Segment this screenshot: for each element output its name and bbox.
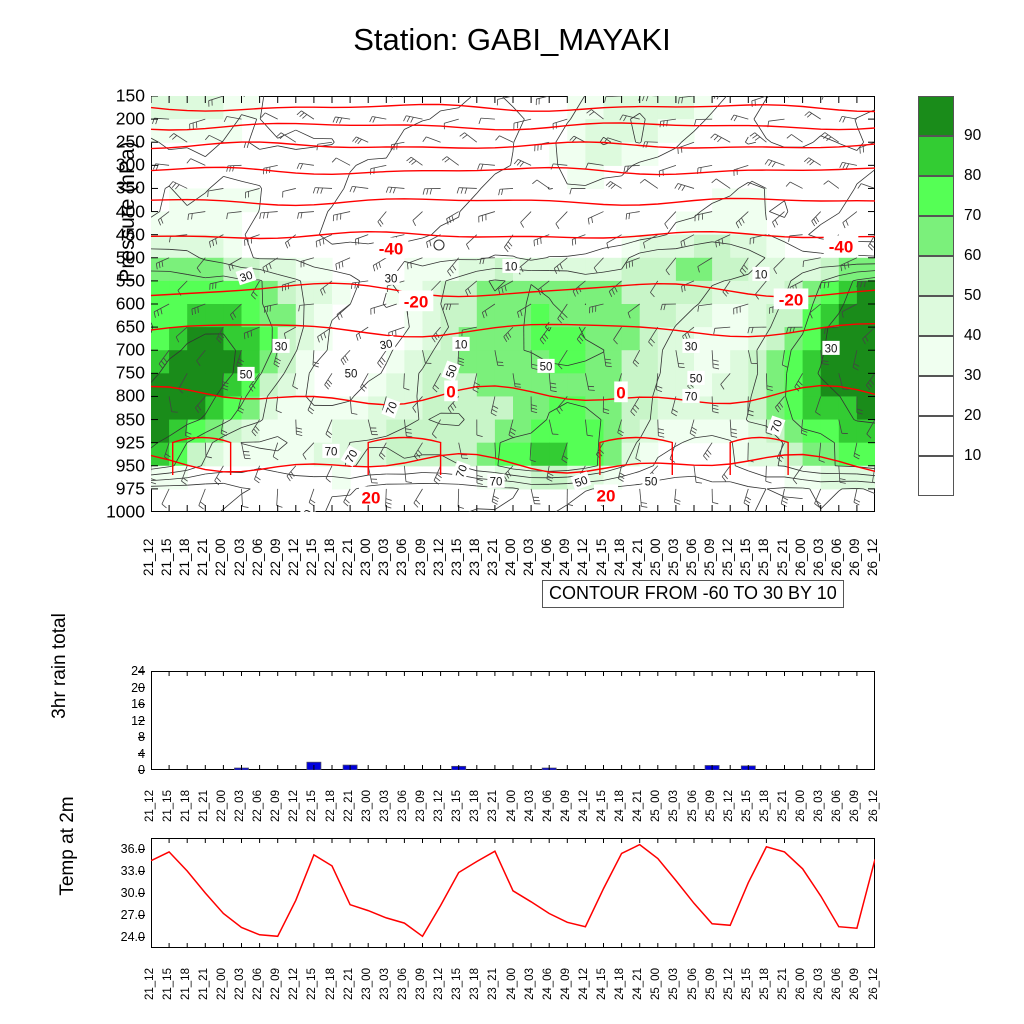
svg-text:20: 20 <box>362 488 381 507</box>
main-y-tick-label: 800 <box>116 386 145 407</box>
rain-x-tick-label: 21_12 <box>144 790 156 822</box>
main-x-tick-label: 24_06 <box>539 538 554 576</box>
temp-x-tick-label: 22_00 <box>216 968 228 1000</box>
rain-x-tick-label: 23_03 <box>379 790 391 822</box>
temp-x-tick-label: 23_00 <box>361 968 373 1000</box>
temp-axis-ticks <box>151 838 875 948</box>
colorbar-tick-label: 40 <box>964 327 981 345</box>
rain-x-tick-label: 23_09 <box>415 790 427 822</box>
temp-x-tick-label: 21_18 <box>180 968 192 1000</box>
temp-x-tick-label: 24_12 <box>578 968 590 1000</box>
main-x-tick-label: 25_12 <box>720 538 735 576</box>
rain-x-tick-label: 26_03 <box>813 790 825 822</box>
rain-x-tick-label: 24_00 <box>506 790 518 822</box>
page-title: Station: GABI_MAYAKI <box>0 22 1024 58</box>
temp-x-tick-label: 25_09 <box>705 968 717 1000</box>
contour-label: 50 <box>237 367 254 382</box>
main-x-tick-label: 26_09 <box>847 538 862 576</box>
contour-label: 0 <box>444 380 458 401</box>
colorbar-tick-label: 90 <box>964 127 981 145</box>
main-x-tick-label: 22_03 <box>232 538 247 576</box>
temp-x-tick-label: 23_12 <box>433 968 445 1000</box>
main-y-tick-label: 550 <box>116 270 145 291</box>
main-y-tick-label: 150 <box>116 86 145 107</box>
svg-text:-40: -40 <box>379 239 404 258</box>
svg-text:50: 50 <box>240 369 253 381</box>
temp-x-tick-label: 24_00 <box>506 968 518 1000</box>
rain-x-tick-label: 25_21 <box>777 790 789 822</box>
main-x-tick-label: 24_03 <box>521 538 536 576</box>
temp-line <box>151 845 875 937</box>
svg-text:0: 0 <box>446 382 455 401</box>
rain-x-tick-label: 26_06 <box>831 790 843 822</box>
main-x-tick-label: 23_00 <box>358 538 373 576</box>
colorbar-cell <box>918 176 954 216</box>
main-x-tick-label: 25_21 <box>775 538 790 576</box>
svg-text:50: 50 <box>645 476 658 488</box>
temp-y-axis-title: Temp at 2m <box>57 756 79 936</box>
temp-x-tick-label: 23_03 <box>379 968 391 1000</box>
temp-x-tick-label: 26_06 <box>831 968 843 1000</box>
temp-x-tick-label: 22_03 <box>234 968 246 1000</box>
rain-x-tick-label: 21_18 <box>180 790 192 822</box>
main-plot-canvas: -40-40-20-200020203030101030301030305050… <box>151 96 875 512</box>
rain-y-tick <box>138 737 145 738</box>
rain-x-tick-label: 22_18 <box>325 790 337 822</box>
temp-x-tick-label: 25_18 <box>759 968 771 1000</box>
rain-x-tick-label: 25_18 <box>759 790 771 822</box>
main-x-tick-label: 22_18 <box>322 538 337 576</box>
temp-x-tick-label: 22_21 <box>343 968 355 1000</box>
colorbar-tick-label: 70 <box>964 207 981 225</box>
main-x-tick-label: 25_18 <box>756 538 771 576</box>
colorbar-tick-label: 50 <box>964 287 981 305</box>
main-x-tick-label: 25_06 <box>684 538 699 576</box>
main-x-tick-label: 23_06 <box>394 538 409 576</box>
rain-y-tick <box>138 671 145 672</box>
temp-x-tick-label: 22_15 <box>306 968 318 1000</box>
svg-text:10: 10 <box>755 269 768 281</box>
temp-x-tick-label: 25_03 <box>668 968 680 1000</box>
svg-text:50: 50 <box>540 361 553 373</box>
rain-x-tick-label: 22_09 <box>270 790 282 822</box>
contour-label: 30 <box>682 339 699 354</box>
contour-label: -40 <box>374 237 409 258</box>
rain-x-tick-label: 22_06 <box>252 790 264 822</box>
rain-x-tick-label: 24_12 <box>578 790 590 822</box>
svg-text:70: 70 <box>325 446 338 458</box>
temp-x-tick-label: 23_21 <box>487 968 499 1000</box>
svg-text:-40: -40 <box>829 237 854 256</box>
rain-axis-ticks <box>151 671 875 770</box>
svg-text:30: 30 <box>685 341 698 353</box>
main-y-tick-label: 350 <box>116 178 145 199</box>
main-x-tick-label: 26_06 <box>829 538 844 576</box>
main-x-tick-label: 23_09 <box>413 538 428 576</box>
contour-label: 70 <box>682 389 699 404</box>
temp-plot-canvas <box>151 838 875 948</box>
temp-x-tick-label: 22_09 <box>270 968 282 1000</box>
svg-text:30: 30 <box>379 338 394 352</box>
temp-x-tick-label: 26_00 <box>795 968 807 1000</box>
temp-x-tick-label: 25_21 <box>777 968 789 1000</box>
contour-label: 70 <box>487 474 504 489</box>
contour-label: 50 <box>537 359 554 374</box>
main-y-tick-label: 1000 <box>106 502 145 523</box>
rain-x-tick-label: 22_03 <box>234 790 246 822</box>
humidity-time-height-panel: -40-40-20-200020203030101030301030305050… <box>151 96 875 512</box>
main-y-tick-label: 600 <box>116 294 145 315</box>
temp-y-tick <box>138 915 145 916</box>
temp-y-tick <box>138 893 145 894</box>
contour-label: -40 <box>824 235 859 256</box>
colorbar-cell <box>918 336 954 376</box>
colorbar-cell <box>918 376 954 416</box>
rain-x-tick-label: 22_12 <box>288 790 300 822</box>
rain-y-tick <box>138 770 145 771</box>
rain-x-tick-label: 25_09 <box>705 790 717 822</box>
rain-x-tick-label: 25_06 <box>687 790 699 822</box>
main-x-tick-label: 21_15 <box>159 538 174 576</box>
main-x-tick-label: 25_09 <box>702 538 717 576</box>
temp-panel <box>151 838 875 948</box>
main-x-tick-label: 25_03 <box>666 538 681 576</box>
contour-note: CONTOUR FROM -60 TO 30 BY 10 <box>542 580 844 608</box>
temp-x-tick-label: 21_21 <box>198 968 210 1000</box>
main-x-tick-label: 23_15 <box>449 538 464 576</box>
main-y-tick-label: 750 <box>116 363 145 384</box>
temp-x-tick-label: 24_15 <box>596 968 608 1000</box>
temp-y-tick <box>138 871 145 872</box>
rain-x-tick-label: 24_06 <box>542 790 554 822</box>
temp-x-tick-label: 24_03 <box>524 968 536 1000</box>
main-x-tick-label: 23_12 <box>431 538 446 576</box>
main-x-tick-label: 24_12 <box>575 538 590 576</box>
main-y-tick-label: 500 <box>116 247 145 268</box>
main-y-tick-label: 250 <box>116 132 145 153</box>
colorbar-cell <box>918 296 954 336</box>
colorbar-cell <box>918 256 954 296</box>
temp-x-tick-label: 23_06 <box>397 968 409 1000</box>
temp-x-tick-label: 26_09 <box>849 968 861 1000</box>
rain-y-tick <box>138 687 145 688</box>
temp-x-tick-label: 22_12 <box>288 968 300 1000</box>
contour-label: 10 <box>452 337 469 352</box>
rain-y-tick <box>138 720 145 721</box>
svg-text:30: 30 <box>275 341 288 353</box>
main-y-tick-label: 950 <box>116 455 145 476</box>
marker-circle <box>434 240 444 250</box>
contour-label: 10 <box>752 267 769 282</box>
main-y-tick-label: 975 <box>116 478 145 499</box>
rain-x-tick-label: 25_03 <box>668 790 680 822</box>
svg-text:10: 10 <box>505 261 518 273</box>
contour-label: 30 <box>382 271 399 286</box>
main-x-tick-label: 24_09 <box>557 538 572 576</box>
rain-x-tick-label: 25_12 <box>723 790 735 822</box>
contour-label: 30 <box>272 339 289 354</box>
main-x-tick-label: 21_21 <box>195 538 210 576</box>
main-x-tick-label: 24_15 <box>594 538 609 576</box>
main-x-tick-labels: 21_1221_1521_1821_2122_0022_0322_0622_09… <box>151 518 875 578</box>
temp-x-tick-label: 22_06 <box>252 968 264 1000</box>
main-x-tick-label: 21_12 <box>141 538 156 576</box>
contour-label: 30 <box>376 335 396 352</box>
rain-x-tick-label: 23_18 <box>469 790 481 822</box>
temp-x-tick-label: 26_03 <box>813 968 825 1000</box>
main-x-tick-label: 22_15 <box>304 538 319 576</box>
temp-x-tick-label: 25_06 <box>687 968 699 1000</box>
main-x-tick-label: 25_00 <box>648 538 663 576</box>
rain-x-tick-label: 26_09 <box>849 790 861 822</box>
contour-label: 50 <box>342 366 359 381</box>
main-y-tick-label: 650 <box>116 317 145 338</box>
main-x-tick-label: 24_18 <box>612 538 627 576</box>
svg-text:0: 0 <box>616 383 625 402</box>
temp-x-tick-label: 25_12 <box>723 968 735 1000</box>
contour-label: 50 <box>642 474 659 489</box>
contour-label: 0 <box>614 381 628 402</box>
svg-text:70: 70 <box>685 391 698 403</box>
temp-x-tick-label: 26_12 <box>868 968 880 1000</box>
main-x-tick-label: 22_00 <box>213 538 228 576</box>
temp-x-tick-label: 25_00 <box>650 968 662 1000</box>
main-x-tick-label: 23_18 <box>467 538 482 576</box>
main-x-tick-label: 22_06 <box>250 538 265 576</box>
main-y-tick-label: 450 <box>116 224 145 245</box>
temp-x-tick-label: 23_18 <box>469 968 481 1000</box>
svg-text:20: 20 <box>597 486 616 505</box>
temp-x-tick-label: 24_18 <box>614 968 626 1000</box>
colorbar-cell <box>918 456 954 496</box>
contour-label: 20 <box>359 486 383 507</box>
rain-x-tick-label: 22_00 <box>216 790 228 822</box>
rain-x-tick-label: 25_15 <box>741 790 753 822</box>
rain-x-tick-label: 26_12 <box>868 790 880 822</box>
temp-x-tick-label: 23_15 <box>451 968 463 1000</box>
rain-y-tick <box>138 704 145 705</box>
temp-x-tick-labels: 21_1221_1521_1821_2122_0022_0322_0622_09… <box>151 950 875 1002</box>
svg-text:70: 70 <box>490 476 503 488</box>
main-y-tick-label: 850 <box>116 409 145 430</box>
temp-x-tick-label: 21_15 <box>162 968 174 1000</box>
main-y-tick-label: 400 <box>116 201 145 222</box>
main-x-tick-label: 26_03 <box>811 538 826 576</box>
main-x-tick-label: 22_09 <box>268 538 283 576</box>
colorbar-tick-label: 20 <box>964 407 981 425</box>
colorbar-tick-label: 10 <box>964 447 981 465</box>
temp-x-tick-label: 24_06 <box>542 968 554 1000</box>
main-y-tick-label: 300 <box>116 155 145 176</box>
temp-x-tick-label: 24_09 <box>560 968 572 1000</box>
humidity-colorbar: 908070605040302010 <box>918 96 954 496</box>
rain-x-tick-label: 22_21 <box>343 790 355 822</box>
main-x-tick-label: 22_12 <box>286 538 301 576</box>
rain-x-tick-label: 26_00 <box>795 790 807 822</box>
rain-x-tick-label: 23_15 <box>451 790 463 822</box>
main-x-tick-label: 25_15 <box>738 538 753 576</box>
rain-x-tick-labels: 21_1221_1521_1821_2122_0022_0322_0622_09… <box>151 772 875 824</box>
svg-text:10: 10 <box>455 339 468 351</box>
rain-x-tick-label: 23_21 <box>487 790 499 822</box>
svg-text:30: 30 <box>385 273 398 285</box>
rain-x-tick-label: 24_09 <box>560 790 572 822</box>
colorbar-cell <box>918 216 954 256</box>
contour-label: 30 <box>822 341 839 356</box>
rain-y-axis-title: 3hr rain total <box>49 576 71 756</box>
main-x-tick-label: 26_12 <box>865 538 880 576</box>
main-y-tick-label: 700 <box>116 340 145 361</box>
rain-x-tick-label: 24_15 <box>596 790 608 822</box>
contour-label: 20 <box>594 484 618 505</box>
colorbar-tick-label: 80 <box>964 167 981 185</box>
rain-x-tick-label: 21_21 <box>198 790 210 822</box>
main-x-tick-label: 23_21 <box>485 538 500 576</box>
rain-x-tick-label: 24_03 <box>524 790 536 822</box>
main-x-tick-label: 21_18 <box>177 538 192 576</box>
rain-x-tick-label: 22_15 <box>306 790 318 822</box>
main-x-tick-label: 24_21 <box>630 538 645 576</box>
contour-label: -20 <box>774 288 809 309</box>
temp-x-tick-label: 24_21 <box>632 968 644 1000</box>
main-x-tick-label: 23_03 <box>376 538 391 576</box>
colorbar-cell <box>918 136 954 176</box>
rain-x-tick-label: 23_00 <box>361 790 373 822</box>
colorbar-tick-label: 60 <box>964 247 981 265</box>
rain-x-tick-label: 24_18 <box>614 790 626 822</box>
contour-label: 70 <box>322 444 339 459</box>
rain-y-tick <box>138 753 145 754</box>
contour-label: -20 <box>399 290 434 311</box>
main-x-tick-label: 24_00 <box>503 538 518 576</box>
rain-x-tick-label: 23_12 <box>433 790 445 822</box>
svg-text:-20: -20 <box>404 292 429 311</box>
svg-text:30: 30 <box>825 343 838 355</box>
rain-x-tick-label: 25_00 <box>650 790 662 822</box>
main-y-tick-label: 925 <box>116 432 145 453</box>
main-y-tick-label: 200 <box>116 109 145 130</box>
rain-y-tick-labels: 04812162024 <box>90 671 145 770</box>
temp-y-tick <box>138 849 145 850</box>
svg-text:-20: -20 <box>779 290 804 309</box>
temp-y-tick-labels: 24.027.030.033.036.0 <box>85 838 145 948</box>
contour-label: 10 <box>502 259 519 274</box>
rain-x-tick-label: 23_06 <box>397 790 409 822</box>
temp-x-tick-label: 23_09 <box>415 968 427 1000</box>
temp-y-tick <box>138 937 145 938</box>
rain-x-tick-label: 24_21 <box>632 790 644 822</box>
main-x-tick-label: 22_21 <box>340 538 355 576</box>
rain-panel <box>151 671 875 770</box>
colorbar-cell <box>918 96 954 136</box>
svg-text:50: 50 <box>345 368 358 380</box>
rain-plot-canvas <box>151 671 875 770</box>
colorbar-cell <box>918 416 954 456</box>
temp-x-tick-label: 22_18 <box>325 968 337 1000</box>
temp-x-tick-label: 21_12 <box>144 968 156 1000</box>
contour-label: 50 <box>687 371 704 386</box>
figure-root: Station: GABI_MAYAKI Pressure (hPa) 1502… <box>0 0 1024 1024</box>
rain-x-tick-label: 21_15 <box>162 790 174 822</box>
colorbar-tick-label: 30 <box>964 367 981 385</box>
temp-x-tick-label: 25_15 <box>741 968 753 1000</box>
main-x-tick-label: 26_00 <box>793 538 808 576</box>
svg-text:50: 50 <box>690 373 703 385</box>
main-y-tick-labels: 1502002503003504004505005506006507007508… <box>60 96 145 512</box>
